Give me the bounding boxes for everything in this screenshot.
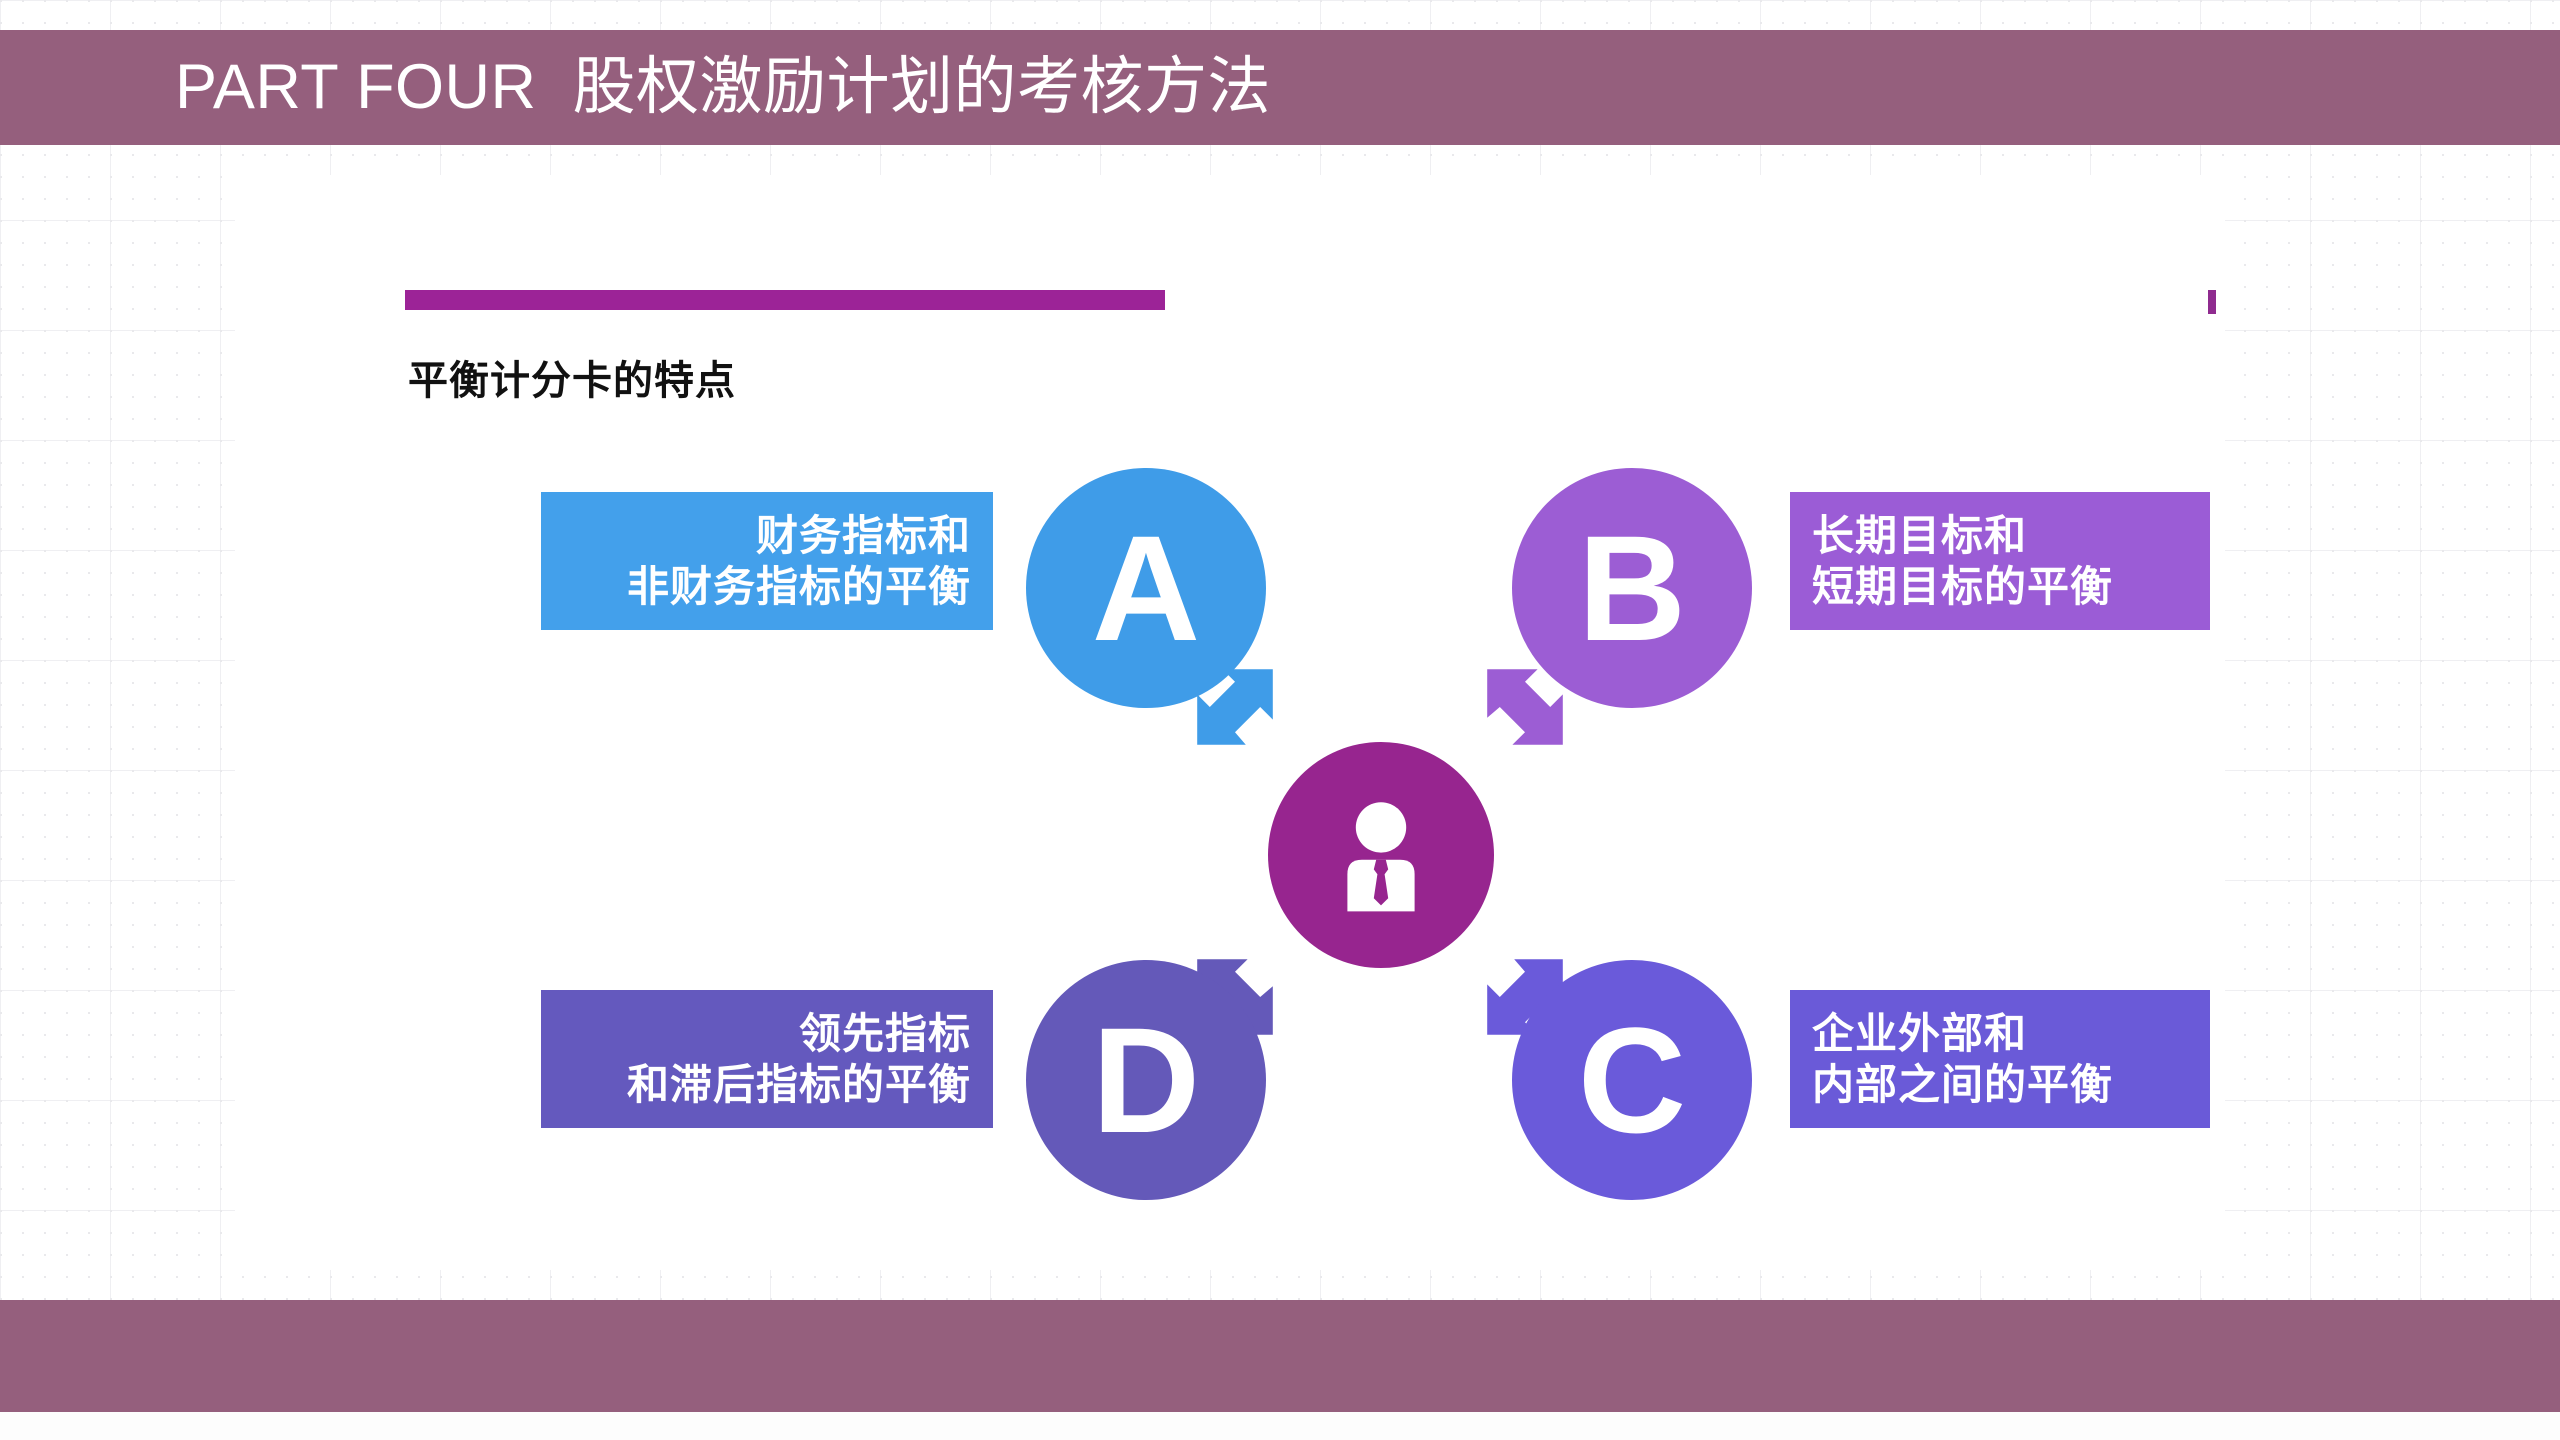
footer-band bbox=[0, 1300, 2560, 1412]
label-box-a[interactable]: 财务指标和 非财务指标的平衡 bbox=[541, 492, 993, 630]
node-circle-c[interactable]: C bbox=[1512, 960, 1752, 1200]
label-box-b[interactable]: 长期目标和 短期目标的平衡 bbox=[1790, 492, 2210, 630]
footer-strip bbox=[0, 1412, 2560, 1440]
page-title: PART FOUR 股权激励计划的考核方法 bbox=[175, 56, 1271, 119]
label-b-line-2: 短期目标的平衡 bbox=[1812, 561, 2188, 612]
label-a-line-1: 财务指标和 bbox=[563, 510, 971, 561]
person-tie-icon bbox=[1321, 795, 1441, 915]
label-a-line-2: 非财务指标的平衡 bbox=[563, 561, 971, 612]
center-hub[interactable] bbox=[1268, 742, 1494, 968]
label-d-line-2: 和滞后指标的平衡 bbox=[563, 1059, 971, 1110]
label-b-line-1: 长期目标和 bbox=[1812, 510, 2188, 561]
node-circle-b[interactable]: B bbox=[1512, 468, 1752, 708]
side-tick-marker bbox=[2208, 290, 2216, 314]
node-circle-d[interactable]: D bbox=[1026, 960, 1266, 1200]
section-subtitle: 平衡计分卡的特点 bbox=[408, 348, 736, 406]
node-circle-a[interactable]: A bbox=[1026, 468, 1266, 708]
label-c-line-2: 内部之间的平衡 bbox=[1812, 1059, 2188, 1110]
label-box-c[interactable]: 企业外部和 内部之间的平衡 bbox=[1790, 990, 2210, 1128]
label-box-d[interactable]: 领先指标 和滞后指标的平衡 bbox=[541, 990, 993, 1128]
accent-rule bbox=[405, 290, 1165, 310]
header-band: PART FOUR 股权激励计划的考核方法 bbox=[0, 30, 2560, 145]
label-c-line-1: 企业外部和 bbox=[1812, 1008, 2188, 1059]
label-d-line-1: 领先指标 bbox=[563, 1008, 971, 1059]
slide-root: PART FOUR 股权激励计划的考核方法 平衡计分卡的特点 A B C D 财… bbox=[0, 0, 2560, 1440]
